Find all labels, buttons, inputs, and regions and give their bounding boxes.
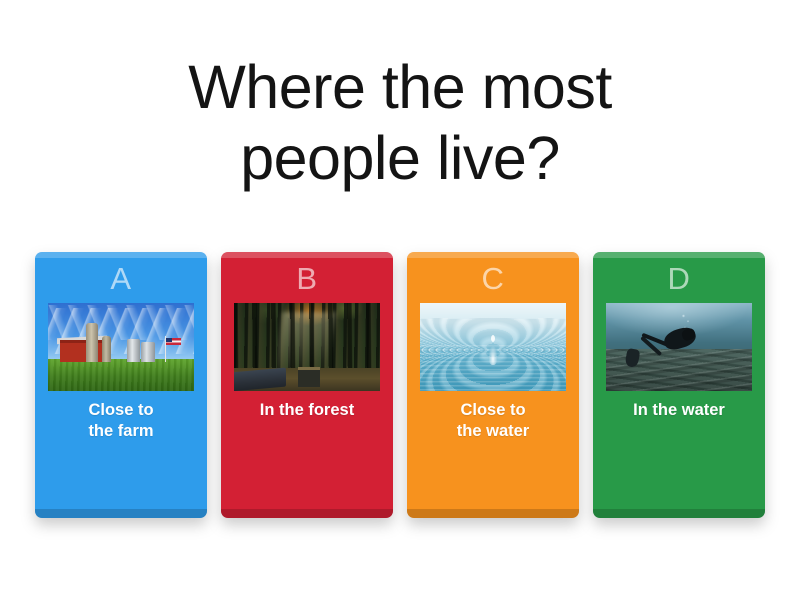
answer-letter-b: B: [296, 263, 317, 294]
answer-options-row: A Close to the farm B: [35, 252, 765, 524]
silo-tall: [86, 323, 98, 362]
crop-rows: [48, 359, 194, 391]
quiz-slide: Where the most people live? A Close to: [0, 0, 800, 600]
water-droplet: [491, 335, 495, 342]
answer-card-d[interactable]: D In the water: [593, 252, 765, 518]
answer-letter-d: D: [668, 263, 691, 294]
question-block: Where the most people live?: [0, 52, 800, 195]
answer-card-c[interactable]: C Close to the water: [407, 252, 579, 518]
answer-label-d: In the water: [598, 400, 760, 421]
grain-bin-right: [141, 342, 154, 362]
diver-photo: [606, 303, 752, 391]
answer-letter-a: A: [110, 263, 131, 294]
answer-label-b: In the forest: [226, 400, 388, 421]
park-bench: [298, 367, 320, 387]
grain-bin-left: [127, 339, 140, 362]
question-text: Where the most people live?: [0, 52, 800, 195]
answer-label-a: Close to the farm: [40, 400, 202, 442]
answer-letter-c: C: [482, 263, 505, 294]
farm-photo: [48, 303, 194, 391]
silo-short: [102, 336, 111, 362]
splash-crown: [489, 345, 498, 365]
flag-canton: [166, 338, 172, 342]
forest-photo: [234, 303, 380, 391]
answer-card-a[interactable]: A Close to the farm: [35, 252, 207, 518]
water-photo: [420, 303, 566, 391]
answer-card-b[interactable]: B In the forest: [221, 252, 393, 518]
answer-label-c: Close to the water: [412, 400, 574, 442]
